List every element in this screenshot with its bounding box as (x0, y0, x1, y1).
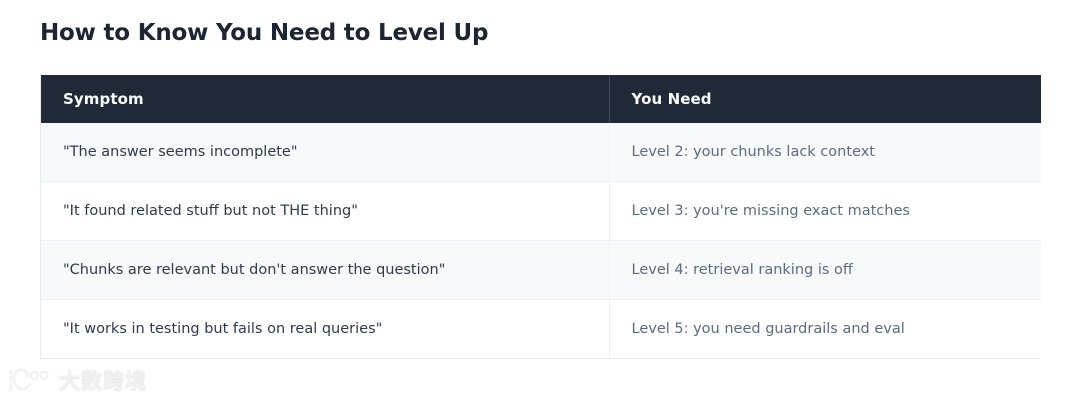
dashu-kuajing-logo-icon (6, 368, 52, 394)
watermark: 大数跨境 (6, 368, 147, 394)
table-body: "The answer seems incomplete" Level 2: y… (41, 123, 1041, 358)
symptom-table-container: Symptom You Need "The answer seems incom… (40, 75, 1040, 359)
table-row: "The answer seems incomplete" Level 2: y… (41, 123, 1041, 182)
cell-you-need: Level 4: retrieval ranking is off (609, 241, 1041, 300)
document-page: How to Know You Need to Level Up Symptom… (0, 0, 1080, 405)
cell-you-need: Level 2: your chunks lack context (609, 123, 1041, 182)
table-header-row: Symptom You Need (41, 75, 1041, 123)
table-row: "It found related stuff but not THE thin… (41, 182, 1041, 241)
cell-symptom: "The answer seems incomplete" (41, 123, 609, 182)
table-row: "It works in testing but fails on real q… (41, 300, 1041, 359)
cell-symptom: "It works in testing but fails on real q… (41, 300, 609, 359)
cell-symptom: "It found related stuff but not THE thin… (41, 182, 609, 241)
symptom-table: Symptom You Need "The answer seems incom… (41, 75, 1041, 358)
cell-you-need: Level 3: you're missing exact matches (609, 182, 1041, 241)
column-header-you-need: You Need (609, 75, 1041, 123)
page-title: How to Know You Need to Level Up (40, 18, 488, 48)
cell-you-need: Level 5: you need guardrails and eval (609, 300, 1041, 359)
watermark-text: 大数跨境 (59, 368, 147, 394)
column-header-symptom: Symptom (41, 75, 609, 123)
cell-symptom: "Chunks are relevant but don't answer th… (41, 241, 609, 300)
table-header: Symptom You Need (41, 75, 1041, 123)
table-row: "Chunks are relevant but don't answer th… (41, 241, 1041, 300)
